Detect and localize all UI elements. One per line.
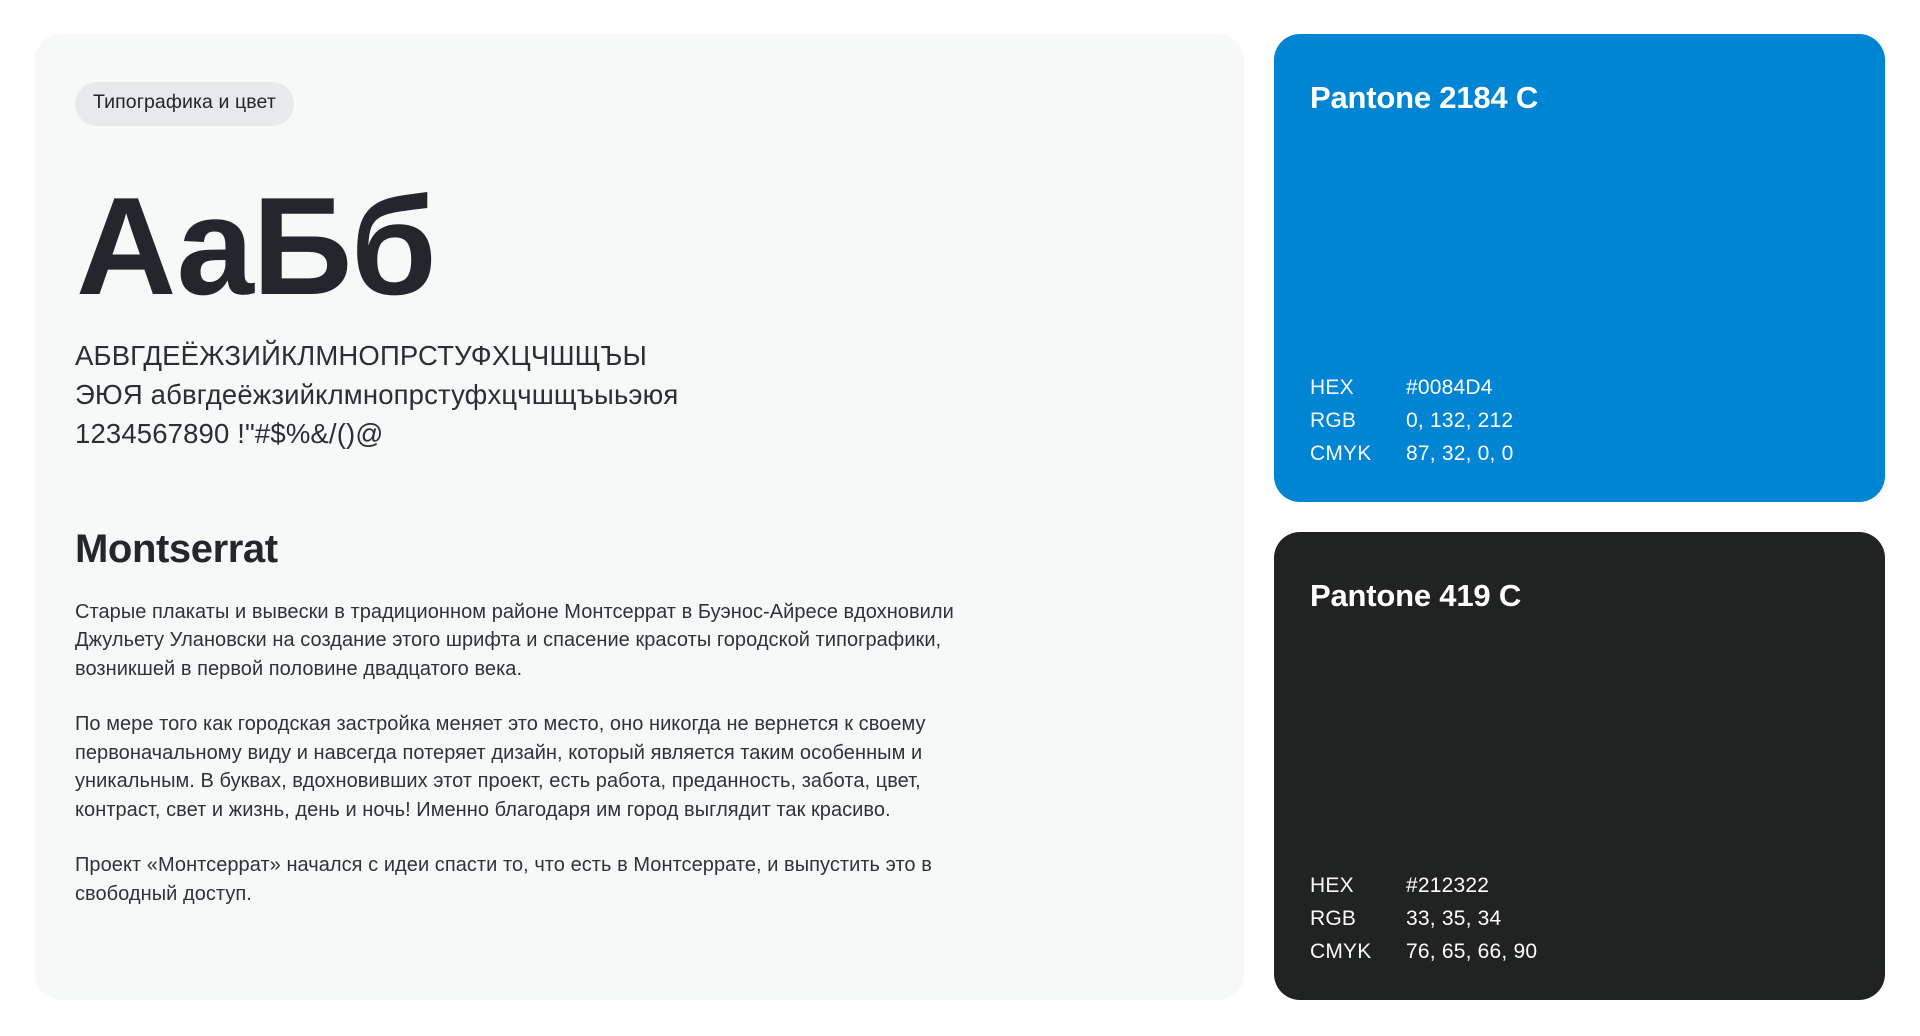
description-paragraph: Проект «Монтсеррат» начался с идеи спаст…	[75, 851, 1010, 908]
rgb-value: 33, 35, 34	[1406, 907, 1849, 931]
font-description: Старые плакаты и вывески в традиционном …	[75, 598, 1204, 909]
style-guide-page: Типографика и цвет АаБб АБВГДЕЁЖЗИЙКЛМНО…	[0, 0, 1920, 1036]
description-paragraph: По мере того как городская застройка мен…	[75, 710, 1010, 824]
type-specimen: АаБб	[76, 180, 1204, 313]
character-set-numerals: 1234567890 !"#$%&/()@	[75, 414, 1204, 453]
cmyk-label: CMYK	[1310, 940, 1406, 964]
rgb-label: RGB	[1310, 409, 1406, 433]
color-swatch-column: Pantone 2184 C HEX #0084D4 RGB 0, 132, 2…	[1274, 34, 1885, 1000]
rgb-label: RGB	[1310, 907, 1406, 931]
color-swatch-pantone-419c: Pantone 419 C HEX #212322 RGB 33, 35, 34…	[1274, 532, 1885, 1000]
swatch-title: Pantone 419 C	[1310, 578, 1849, 614]
character-set-lowercase: ЭЮЯ абвгдеёжзийклмнопрстуфхцчшщъыьэюя	[75, 375, 1204, 414]
cmyk-label: CMYK	[1310, 442, 1406, 466]
hex-value: #0084D4	[1406, 376, 1849, 400]
cmyk-value: 76, 65, 66, 90	[1406, 940, 1849, 964]
font-family-name: Montserrat	[75, 527, 1204, 572]
color-swatch-pantone-2184c: Pantone 2184 C HEX #0084D4 RGB 0, 132, 2…	[1274, 34, 1885, 502]
hex-label: HEX	[1310, 376, 1406, 400]
cmyk-value: 87, 32, 0, 0	[1406, 442, 1849, 466]
swatch-color-values: HEX #0084D4 RGB 0, 132, 212 CMYK 87, 32,…	[1310, 376, 1849, 466]
hex-value: #212322	[1406, 874, 1849, 898]
typography-card: Типографика и цвет АаБб АБВГДЕЁЖЗИЙКЛМНО…	[35, 34, 1244, 1000]
swatch-color-values: HEX #212322 RGB 33, 35, 34 CMYK 76, 65, …	[1310, 874, 1849, 964]
character-set: АБВГДЕЁЖЗИЙКЛМНОПРСТУФХЦЧШЩЪЫ ЭЮЯ абвгде…	[75, 336, 1204, 453]
character-set-uppercase: АБВГДЕЁЖЗИЙКЛМНОПРСТУФХЦЧШЩЪЫ	[75, 336, 1204, 375]
hex-label: HEX	[1310, 874, 1406, 898]
description-paragraph: Старые плакаты и вывески в традиционном …	[75, 598, 1010, 684]
section-badge: Типографика и цвет	[75, 82, 294, 126]
rgb-value: 0, 132, 212	[1406, 409, 1849, 433]
swatch-title: Pantone 2184 C	[1310, 80, 1849, 116]
